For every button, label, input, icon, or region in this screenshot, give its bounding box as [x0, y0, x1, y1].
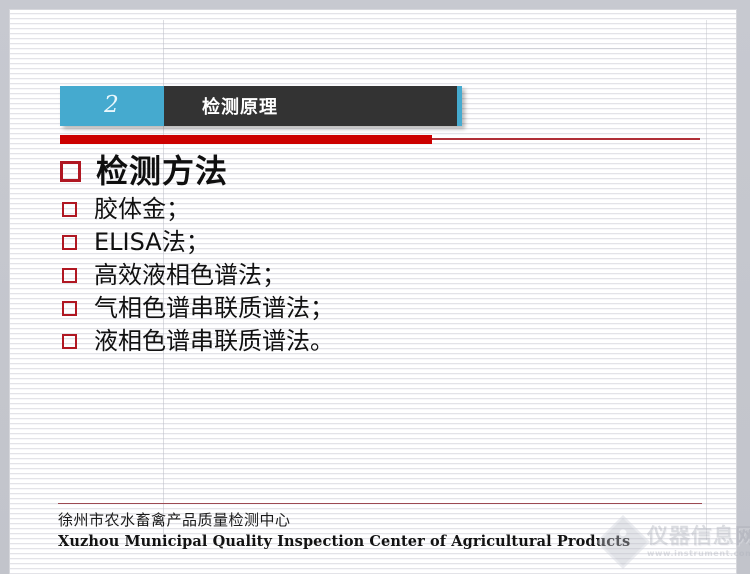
hollow-square-bullet-icon [62, 334, 77, 349]
content-heading-text: 检测方法 [96, 152, 228, 190]
section-banner: 2 检测原理 [60, 86, 462, 126]
list-item: 气相色谱串联质谱法； [60, 293, 700, 323]
footer-divider [58, 503, 702, 504]
section-title: 检测原理 [202, 93, 278, 119]
banner-accent-edge [457, 86, 462, 126]
hollow-square-bullet-icon [62, 235, 77, 250]
list-item-label: 液相色谱串联质谱法。 [94, 326, 334, 356]
hollow-square-bullet-icon [62, 202, 77, 217]
vertical-guide-line-right [706, 20, 707, 540]
section-number: 2 [104, 92, 120, 118]
list-item: 高效液相色谱法； [60, 260, 700, 290]
hollow-square-bullet-icon [62, 268, 77, 283]
content-heading-row: 检测方法 [60, 152, 700, 190]
slide: 2 检测原理 检测方法 胶体金； ELISA法； 高效液相色谱法； 气相色 [0, 0, 750, 574]
hollow-square-bullet-icon [60, 161, 81, 182]
section-number-box: 2 [60, 86, 164, 126]
list-item: ELISA法； [60, 227, 700, 257]
section-title-box: 检测原理 [164, 86, 462, 126]
red-divider-bar [60, 135, 432, 144]
list-item: 液相色谱串联质谱法。 [60, 326, 700, 356]
slide-content: 检测方法 胶体金； ELISA法； 高效液相色谱法； 气相色谱串联质谱法； 液相… [60, 152, 700, 359]
footer-organization-english: Xuzhou Municipal Quality Inspection Cent… [58, 532, 718, 552]
red-divider-line [432, 138, 700, 140]
hollow-square-bullet-icon [62, 301, 77, 316]
list-item-label: 胶体金； [94, 194, 190, 224]
list-item-label: 气相色谱串联质谱法； [94, 293, 334, 323]
horizontal-guide-line [163, 48, 706, 49]
list-item-label: ELISA法； [94, 227, 210, 257]
slide-footer: 徐州市农水畜禽产品质量检测中心 Xuzhou Municipal Quality… [58, 510, 718, 552]
footer-organization-chinese: 徐州市农水畜禽产品质量检测中心 [58, 510, 718, 530]
list-item-label: 高效液相色谱法； [94, 260, 286, 290]
list-item: 胶体金； [60, 194, 700, 224]
